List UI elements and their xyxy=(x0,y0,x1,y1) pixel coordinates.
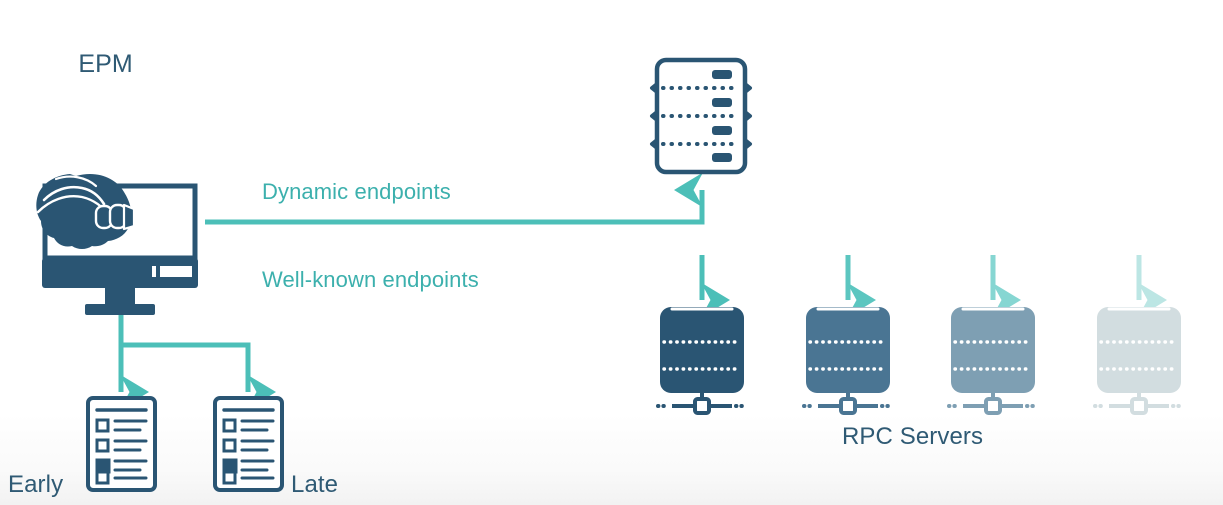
night-vision-goggles-icon xyxy=(96,205,134,229)
attacker-workstation-icon xyxy=(36,174,198,315)
early-scan-label-line1: Early xyxy=(8,472,63,499)
rpc-server-1 xyxy=(658,307,746,413)
late-scan-document-icon xyxy=(215,398,282,490)
early-scan-document-icon xyxy=(88,398,155,490)
rpc-servers-label: RPC Servers xyxy=(842,424,983,451)
rpc-server-2 xyxy=(804,307,892,413)
dynamic-endpoints-label: Dynamic endpoints xyxy=(262,180,451,205)
late-scan-label-line1: Late xyxy=(291,472,346,499)
well-known-endpoints-label: Well-known endpoints xyxy=(262,268,479,293)
epm-label-text: EPM xyxy=(78,50,132,78)
early-scan-label: Early Scan xyxy=(8,418,63,505)
branch-late-scan xyxy=(121,345,248,392)
epm-label: EPM xyxy=(0,22,1223,106)
late-scan-label: Late Scan xyxy=(291,418,346,505)
rpc-server-3 xyxy=(949,307,1037,413)
connector-scan-outputs xyxy=(121,312,248,392)
rpc-server-4 xyxy=(1095,307,1183,413)
diagram-canvas: EPM Dynamic endpoints Well-known endpoin… xyxy=(0,0,1223,505)
